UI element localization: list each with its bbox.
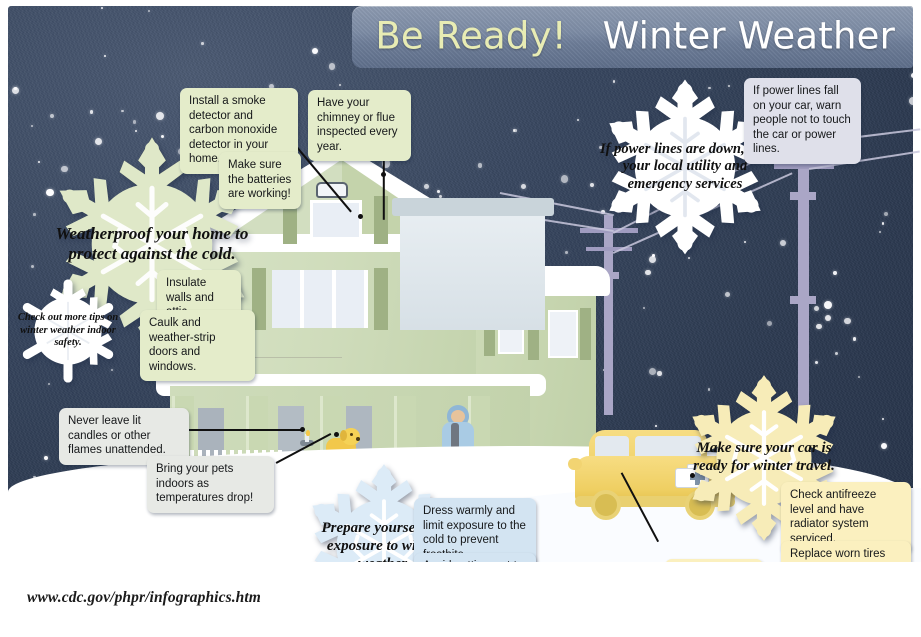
source-url: www.cdc.gov/phpr/infographics.htm [27, 589, 261, 607]
wing-window-right [548, 310, 578, 358]
callout-pets: Bring your pets indoors as temperatures … [147, 456, 274, 513]
garage-roof [392, 198, 554, 216]
page-title: Be Ready! Winter Weather [375, 15, 895, 58]
callout-power-lines-car: If power lines fall on your car, warn pe… [744, 78, 861, 164]
flake-indoor-safety: Check out more tips on winter weather in… [7, 275, 129, 387]
title-main: Winter Weather [603, 15, 895, 58]
front-window-panes [272, 270, 368, 328]
title-emphasis: Be Ready! [375, 15, 566, 58]
callout-caulk: Caulk and weather-strip doors and window… [140, 310, 255, 381]
callout-chimney: Have your chimney or flue inspected ever… [308, 90, 411, 161]
flake-indoor-safety-text: Check out more tips on winter weather in… [7, 312, 129, 349]
flake-car-ready-text: Make sure your car is ready for winter t… [676, 440, 852, 475]
attic-window [310, 200, 362, 240]
callout-batteries: Make sure the batteries are working! [219, 152, 301, 209]
flake-weatherproof-text: Weatherproof your home to protect agains… [36, 224, 268, 264]
garage [400, 210, 545, 330]
title-bar: Be Ready! Winter Weather [352, 6, 913, 68]
infographic-poster: Be Ready! Winter Weather [0, 0, 921, 637]
